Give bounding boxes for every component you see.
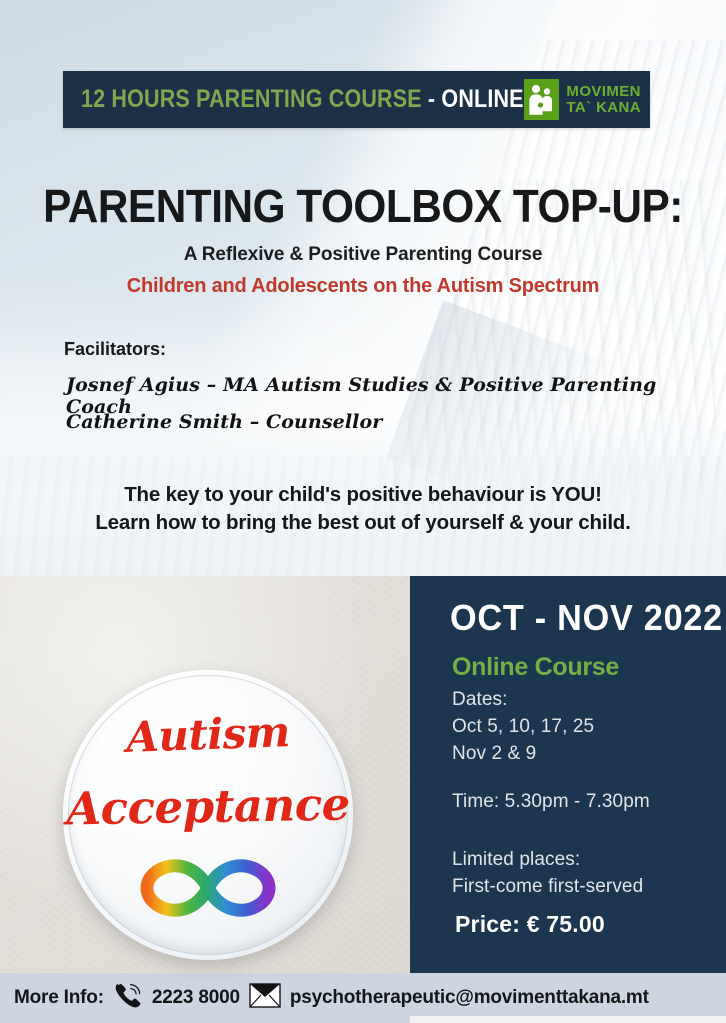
footer-bottom-strip (410, 1016, 726, 1023)
rainbow-infinity-icon (133, 852, 283, 929)
course-hours-label: 12 HOURS PARENTING COURSE (81, 85, 422, 113)
logo-wordmark-line2: TA` KANA (566, 100, 641, 116)
phone-icon (113, 981, 143, 1015)
pin-badge-line-1: Autism (63, 705, 353, 764)
organization-logo: MOVIMEN TA` KANA (524, 79, 641, 120)
course-details-panel: OCT - NOV 2022 Online Course Dates: Oct … (410, 576, 726, 973)
limited-places-label: Limited places: (452, 846, 643, 873)
tagline-line-2: Learn how to bring the best out of yours… (0, 509, 726, 537)
course-mode-label: ONLINE (441, 85, 523, 113)
envelope-icon (249, 983, 281, 1014)
header-ribbon-text: 12 HOURS PARENTING COURSE - ONLINE (81, 85, 524, 114)
contact-footer-content: More Info: 2223 8000 psychotherapeutic@m… (14, 981, 649, 1015)
dates-line-1: Oct 5, 10, 17, 25 (452, 713, 594, 740)
dates-line-2: Nov 2 & 9 (452, 740, 594, 767)
limited-places-value: First-come first-served (452, 873, 643, 900)
logo-wordmark: MOVIMEN TA` KANA (566, 84, 641, 116)
facilitators-label: Facilitators: (64, 339, 166, 360)
poster: 12 HOURS PARENTING COURSE - ONLINE MOVIM… (0, 0, 726, 1023)
course-price: Price: € 75.00 (455, 911, 605, 938)
header-ribbon: 12 HOURS PARENTING COURSE - ONLINE MOVIM… (63, 71, 650, 128)
course-dates-block: Dates: Oct 5, 10, 17, 25 Nov 2 & 9 (452, 686, 594, 767)
facilitator-name: Catherine Smith – Counsellor (66, 411, 382, 433)
phone-number[interactable]: 2223 8000 (152, 987, 240, 1009)
course-period: OCT - NOV 2022 (450, 597, 723, 639)
logo-wordmark-line1: MOVIMEN (566, 84, 641, 100)
tagline-line-1: The key to your child's positive behavio… (0, 481, 726, 509)
availability-block: Limited places: First-come first-served (452, 846, 643, 900)
page-subtitle: A Reflexive & Positive Parenting Course (0, 244, 726, 266)
header-dash: - (422, 85, 442, 113)
family-logo-icon (524, 79, 559, 120)
autism-acceptance-pin-badge: Autism Acceptance (63, 670, 353, 960)
more-info-label: More Info: (14, 987, 104, 1009)
course-time: Time: 5.30pm - 7.30pm (452, 788, 650, 815)
course-format: Online Course (452, 653, 619, 682)
tagline: The key to your child's positive behavio… (0, 481, 726, 537)
pin-badge-line-2: Acceptance (63, 777, 353, 835)
email-address[interactable]: psychotherapeutic@movimenttakana.mt (290, 987, 649, 1009)
dates-label: Dates: (452, 686, 594, 713)
page-subtitle-highlight: Children and Adolescents on the Autism S… (0, 275, 726, 298)
page-title: PARENTING TOOLBOX TOP-UP: (29, 179, 697, 233)
